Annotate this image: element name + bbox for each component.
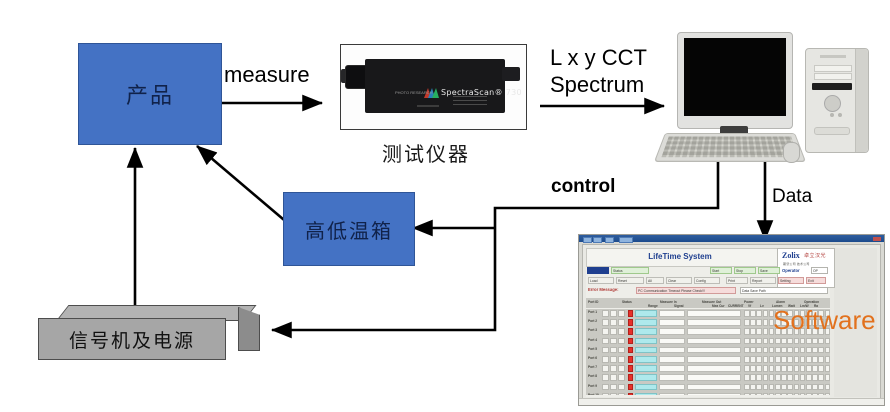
grid-row-port-label: Port 10 — [588, 393, 599, 395]
grid-cell-control-3[interactable] — [618, 319, 625, 326]
pc-tower-power-button — [824, 95, 841, 112]
grid-value-cell — [775, 338, 781, 345]
grid-row[interactable]: Port 7 — [588, 364, 828, 373]
data-save-path-select[interactable]: Data Save Path — [740, 287, 828, 294]
grid-value-cell — [775, 347, 781, 354]
grid-cell-control-2[interactable] — [610, 338, 617, 345]
grid-range-field[interactable] — [635, 365, 657, 372]
grid-value-cell — [787, 365, 793, 372]
toolbar-exit-button[interactable]: Exit — [806, 277, 826, 284]
grid-value-cell — [787, 384, 793, 391]
grid-range-field[interactable] — [635, 393, 657, 395]
grid-value-cell — [818, 393, 824, 395]
grid-value-cell — [794, 338, 800, 345]
grid-status-led — [628, 393, 633, 395]
grid-measure-field[interactable] — [687, 310, 741, 317]
grid-value-cell — [769, 365, 775, 372]
grid-value-cell — [763, 319, 769, 326]
colhdr-meacur: Mea Cur — [712, 304, 725, 308]
grid-value-cell — [775, 356, 781, 363]
toolbar-start-button[interactable]: Start — [710, 267, 732, 274]
colhdr-lv: Lv — [760, 304, 764, 308]
grid-value-cell — [763, 347, 769, 354]
grid-row-port-label: Port 7 — [588, 365, 597, 369]
grid-value-cell — [744, 319, 750, 326]
error-message-value: PC Communication Timeout Please Check!!! — [636, 287, 736, 294]
grid-cell-control-1[interactable] — [602, 393, 609, 395]
instrument-maker-text: PHOTO RESEARCH — [395, 90, 433, 95]
monitor — [677, 32, 793, 129]
grid-cell-control-2[interactable] — [610, 384, 617, 391]
monitor-screen — [684, 38, 786, 116]
grid-value-cell — [763, 393, 769, 395]
grid-value-cell — [818, 356, 824, 363]
grid-range-field[interactable] — [635, 338, 657, 345]
node-chamber[interactable]: 高低温箱 — [283, 192, 415, 266]
grid-value-cell — [794, 384, 800, 391]
grid-value-cell — [787, 393, 793, 395]
grid-value-cell — [769, 374, 775, 381]
grid-value-cell — [769, 338, 775, 345]
grid-cell-control-2[interactable] — [610, 365, 617, 372]
grid-cell-control-2[interactable] — [610, 319, 617, 326]
grid-row-action-button[interactable] — [825, 347, 830, 354]
grid-value-cell — [812, 356, 818, 363]
toolbar-com-indicator[interactable] — [587, 267, 609, 274]
grid-value-cell — [806, 365, 812, 372]
grid-signal-field[interactable] — [659, 338, 685, 345]
toolbar-operator-label: Operator — [782, 267, 800, 275]
toolbar-print-button[interactable]: Print — [726, 277, 748, 284]
toolbar-stop-button[interactable]: Stop — [734, 267, 756, 274]
grid-status-led — [628, 310, 633, 317]
grid-row-port-label: Port 2 — [588, 319, 597, 323]
grid-value-cell — [744, 347, 750, 354]
grid-value-cell — [787, 347, 793, 354]
grid-value-cell — [769, 347, 775, 354]
toolbar-save-button[interactable]: Save — [758, 267, 780, 274]
error-message-label: Error Message: — [588, 286, 619, 294]
grid-measure-field[interactable] — [687, 328, 741, 335]
grid-value-cell — [812, 393, 818, 395]
software-overlay-label: Software — [773, 305, 876, 336]
grid-value-cell — [769, 393, 775, 395]
grid-value-cell — [800, 338, 806, 345]
grid-measure-field[interactable] — [687, 384, 741, 391]
mouse — [783, 142, 800, 163]
grid-cell-control-1[interactable] — [602, 384, 609, 391]
software-titlebar — [579, 235, 884, 242]
grid-measure-field[interactable] — [687, 374, 741, 381]
grid-value-cell — [744, 393, 750, 395]
grid-value-cell — [794, 356, 800, 363]
grid-value-cell — [775, 384, 781, 391]
grid-value-cell — [756, 384, 762, 391]
grid-value-cell — [787, 356, 793, 363]
toolbar-status-field[interactable]: Status — [611, 267, 649, 274]
grid-cell-control-3[interactable] — [618, 374, 625, 381]
grid-value-cell — [794, 365, 800, 372]
diagram-canvas: 产品 measure PHOTO RESEARCH SpectraScan® 7… — [0, 0, 890, 412]
edge-label-measure: measure — [224, 62, 310, 88]
titlebar-menu-help[interactable] — [619, 237, 633, 243]
grid-value-cell — [750, 365, 756, 372]
grid-row-port-label: Port 3 — [588, 328, 597, 332]
grid-measure-field[interactable] — [687, 319, 741, 326]
vendor-logo-cn: 卓立汉光 — [804, 252, 826, 259]
grid-range-field[interactable] — [635, 384, 657, 391]
grid-value-cell — [756, 365, 762, 372]
grid-value-cell — [750, 338, 756, 345]
grid-row-port-label: Port 5 — [588, 347, 597, 351]
colhdr-current: CURRENT — [728, 304, 744, 308]
pc-tower-bay-1 — [814, 65, 852, 72]
grid-value-cell — [763, 356, 769, 363]
node-computer[interactable] — [665, 30, 885, 160]
grid-cell-control-1[interactable] — [602, 328, 609, 335]
grid-value-cell — [750, 328, 756, 335]
node-power-supply[interactable]: 信号机及电源 — [38, 305, 260, 363]
grid-row-port-label: Port 8 — [588, 374, 597, 378]
grid-value-cell — [775, 374, 781, 381]
grid-row[interactable]: Port 4 — [588, 337, 828, 346]
grid-value-cell — [769, 356, 775, 363]
toolbar-setting-button[interactable]: Setting — [778, 277, 804, 284]
grid-value-cell — [781, 347, 787, 354]
toolbar-report-button[interactable]: Report — [750, 277, 776, 284]
pc-tower-badge — [814, 127, 850, 135]
grid-value-cell — [781, 356, 787, 363]
grid-cell-control-3[interactable] — [618, 384, 625, 391]
grid-value-cell — [750, 319, 756, 326]
grid-measure-field[interactable] — [687, 365, 741, 372]
titlebar-menu-view[interactable] — [605, 237, 614, 243]
grid-row-port-label: Port 6 — [588, 356, 597, 360]
colhdr-signal: Signal — [674, 304, 684, 308]
node-instrument-photo[interactable]: PHOTO RESEARCH SpectraScan® 730 — [340, 44, 527, 130]
grid-cell-control-2[interactable] — [610, 356, 617, 363]
grid-value-cell — [756, 310, 762, 317]
grid-cell-control-3[interactable] — [618, 347, 625, 354]
toolbar-reset-button[interactable]: Reset — [616, 277, 644, 284]
monitor-bezel-bottom — [684, 118, 786, 125]
grid-value-cell — [806, 393, 812, 395]
instrument-vent-1 — [453, 96, 487, 97]
grid-cell-control-1[interactable] — [602, 319, 609, 326]
grid-cell-control-3[interactable] — [618, 393, 625, 395]
grid-row-action-button[interactable] — [825, 374, 830, 381]
grid-value-cell — [781, 374, 787, 381]
grid-row-port-label: Port 4 — [588, 338, 597, 342]
titlebar-menu-edit[interactable] — [593, 237, 602, 243]
grid-status-led — [628, 374, 633, 381]
grid-value-cell — [750, 374, 756, 381]
grid-value-cell — [744, 338, 750, 345]
grid-value-cell — [775, 365, 781, 372]
node-product-label: 产品 — [126, 78, 174, 110]
node-product[interactable]: 产品 — [78, 43, 222, 145]
grid-measure-field[interactable] — [687, 356, 741, 363]
edge-label-readout-line2: Spectrum — [550, 72, 644, 98]
grid-value-cell — [763, 338, 769, 345]
grid-value-cell — [806, 374, 812, 381]
software-screenshot[interactable]: LifeTime System Exit Zolix 卓立汉光 期望公司 技术公… — [578, 234, 885, 406]
grid-value-cell — [812, 347, 818, 354]
grid-value-cell — [763, 310, 769, 317]
grid-signal-field[interactable] — [659, 393, 685, 395]
colgroup-port-id: Port ID — [588, 300, 598, 304]
grid-cell-control-2[interactable] — [610, 374, 617, 381]
grid-range-field[interactable] — [635, 374, 657, 381]
grid-cell-control-1[interactable] — [602, 374, 609, 381]
colgroup-status: Status — [622, 300, 632, 304]
grid-status-led — [628, 365, 633, 372]
grid-value-cell — [750, 310, 756, 317]
software-app-title: LifeTime System — [587, 252, 773, 261]
power-supply-front-face: 信号机及电源 — [38, 318, 226, 360]
toolbar-config-button[interactable]: Config — [694, 277, 720, 284]
grid-value-cell — [750, 393, 756, 395]
grid-cell-control-2[interactable] — [610, 393, 617, 395]
grid-value-cell — [775, 393, 781, 395]
colhdr-range: Range — [648, 304, 658, 308]
pc-tower-optical-drive — [812, 83, 852, 90]
grid-measure-field[interactable] — [687, 347, 741, 354]
grid-value-cell — [756, 338, 762, 345]
grid-row[interactable]: Port 6 — [588, 355, 828, 364]
grid-cell-control-3[interactable] — [618, 365, 625, 372]
grid-value-cell — [744, 374, 750, 381]
grid-cell-control-3[interactable] — [618, 338, 625, 345]
grid-value-cell — [818, 365, 824, 372]
grid-cell-control-1[interactable] — [602, 310, 609, 317]
grid-row-action-button[interactable] — [825, 356, 830, 363]
grid-value-cell — [769, 384, 775, 391]
grid-value-cell — [812, 384, 818, 391]
grid-value-cell — [744, 328, 750, 335]
vendor-logo-name: Zolix — [782, 251, 800, 260]
grid-signal-field[interactable] — [659, 365, 685, 372]
grid-value-cell — [781, 365, 787, 372]
pc-tower-side-panel — [855, 49, 868, 152]
grid-value-cell — [763, 374, 769, 381]
grid-range-field[interactable] — [635, 328, 657, 335]
grid-value-cell — [818, 338, 824, 345]
titlebar-menu-file[interactable] — [583, 237, 592, 243]
arrow-chamber-to-product — [197, 146, 290, 225]
grid-value-cell — [756, 356, 762, 363]
grid-value-cell — [750, 347, 756, 354]
grid-status-led — [628, 356, 633, 363]
pc-tower-logo — [820, 55, 846, 58]
instrument-body: PHOTO RESEARCH SpectraScan® 730 — [365, 59, 505, 113]
vendor-logo-subtitle: 期望公司 技术公司 — [783, 262, 810, 266]
toolbar-clear-button[interactable]: Clear — [666, 277, 692, 284]
grid-row[interactable]: Port 10 — [588, 392, 828, 395]
grid-cell-control-1[interactable] — [602, 338, 609, 345]
instrument-vent-2 — [453, 100, 487, 101]
software-error-row: Error Message: PC Communication Timeout … — [586, 287, 830, 296]
grid-cell-control-2[interactable] — [610, 328, 617, 335]
grid-value-cell — [756, 319, 762, 326]
grid-value-cell — [781, 384, 787, 391]
grid-row-action-button[interactable] — [825, 338, 830, 345]
grid-value-cell — [806, 347, 812, 354]
grid-value-cell — [818, 347, 824, 354]
instrument-foot — [417, 105, 439, 107]
grid-value-cell — [812, 374, 818, 381]
grid-value-cell — [763, 384, 769, 391]
grid-range-field[interactable] — [635, 347, 657, 354]
grid-cell-control-3[interactable] — [618, 310, 625, 317]
grid-cell-control-1[interactable] — [602, 347, 609, 354]
grid-status-led — [628, 319, 633, 326]
edge-label-readout-line1: L x y CCT — [550, 45, 647, 71]
grid-value-cell — [763, 328, 769, 335]
pc-tower-led-2 — [838, 113, 842, 117]
colhdr-vf: Vf — [748, 304, 751, 308]
grid-value-cell — [787, 374, 793, 381]
toolbar-all-button[interactable]: All — [646, 277, 664, 284]
grid-cell-control-3[interactable] — [618, 356, 625, 363]
grid-value-cell — [756, 328, 762, 335]
grid-range-field[interactable] — [635, 319, 657, 326]
grid-value-cell — [794, 347, 800, 354]
grid-signal-field[interactable] — [659, 328, 685, 335]
grid-value-cell — [756, 393, 762, 395]
grid-value-cell — [781, 393, 787, 395]
pc-tower — [805, 48, 869, 153]
grid-value-cell — [794, 374, 800, 381]
pc-tower-bay-2 — [814, 73, 852, 80]
grid-row[interactable]: Port 5 — [588, 346, 828, 355]
grid-value-cell — [818, 384, 824, 391]
instrument-vent-3 — [453, 104, 487, 105]
grid-value-cell — [812, 338, 818, 345]
software-statusbar — [579, 398, 884, 405]
grid-value-cell — [812, 365, 818, 372]
grid-signal-field[interactable] — [659, 384, 685, 391]
grid-row-action-button[interactable] — [825, 393, 830, 395]
grid-value-cell — [800, 393, 806, 395]
grid-value-cell — [756, 347, 762, 354]
grid-signal-field[interactable] — [659, 319, 685, 326]
toolbar-operator-value[interactable]: OP — [811, 267, 828, 274]
grid-status-led — [628, 347, 633, 354]
grid-value-cell — [794, 393, 800, 395]
grid-signal-field[interactable] — [659, 310, 685, 317]
grid-value-cell — [744, 310, 750, 317]
grid-row-port-label: Port 1 — [588, 310, 597, 314]
grid-row-port-label: Port 9 — [588, 384, 597, 388]
grid-cell-control-2[interactable] — [610, 310, 617, 317]
grid-row-action-button[interactable] — [825, 365, 830, 372]
grid-row[interactable]: Port 9 — [588, 383, 828, 392]
grid-status-led — [628, 328, 633, 335]
grid-value-cell — [787, 338, 793, 345]
grid-value-cell — [744, 356, 750, 363]
edge-label-control: control — [551, 176, 615, 198]
software-toolbar-row-1: Status Start Stop Save Operator OP — [586, 267, 830, 276]
edge-label-data: Data — [772, 186, 812, 208]
grid-signal-field[interactable] — [659, 347, 685, 354]
window-close-icon[interactable] — [873, 237, 881, 241]
toolbar-load-button[interactable]: Load — [588, 277, 614, 284]
grid-cell-control-2[interactable] — [610, 347, 617, 354]
grid-measure-field[interactable] — [687, 393, 741, 395]
grid-value-cell — [750, 384, 756, 391]
grid-signal-field[interactable] — [659, 374, 685, 381]
grid-value-cell — [800, 384, 806, 391]
grid-cell-control-3[interactable] — [618, 328, 625, 335]
grid-value-cell — [806, 384, 812, 391]
grid-value-cell — [800, 347, 806, 354]
grid-status-led — [628, 338, 633, 345]
grid-value-cell — [750, 356, 756, 363]
software-toolbar-row-2: Load Reset All Clear Config Print Report… — [586, 277, 830, 286]
power-supply-side-face — [238, 307, 260, 351]
grid-range-field[interactable] — [635, 356, 657, 363]
instrument-caption: 测试仪器 — [382, 138, 470, 167]
keyboard-keys — [661, 137, 798, 158]
grid-value-cell — [781, 338, 787, 345]
grid-value-cell — [806, 338, 812, 345]
grid-row[interactable]: Port 8 — [588, 373, 828, 382]
grid-cell-control-1[interactable] — [602, 365, 609, 372]
grid-range-field[interactable] — [635, 310, 657, 317]
grid-value-cell — [763, 365, 769, 372]
grid-value-cell — [806, 356, 812, 363]
grid-value-cell — [818, 374, 824, 381]
node-chamber-label: 高低温箱 — [305, 215, 393, 244]
pc-tower-led-1 — [830, 113, 834, 117]
grid-signal-field[interactable] — [659, 356, 685, 363]
grid-value-cell — [800, 356, 806, 363]
instrument-tail-port — [502, 67, 520, 81]
software-window-body: LifeTime System Exit Zolix 卓立汉光 期望公司 技术公… — [582, 244, 881, 401]
grid-value-cell — [756, 374, 762, 381]
grid-value-cell — [800, 365, 806, 372]
grid-value-cell — [800, 374, 806, 381]
software-header-bar: LifeTime System Exit Zolix 卓立汉光 期望公司 技术公… — [586, 248, 832, 267]
grid-status-led — [628, 384, 633, 391]
grid-cell-control-1[interactable] — [602, 356, 609, 363]
grid-measure-field[interactable] — [687, 338, 741, 345]
grid-value-cell — [744, 365, 750, 372]
node-power-label: 信号机及电源 — [69, 326, 195, 353]
grid-row-action-button[interactable] — [825, 384, 830, 391]
grid-value-cell — [744, 384, 750, 391]
